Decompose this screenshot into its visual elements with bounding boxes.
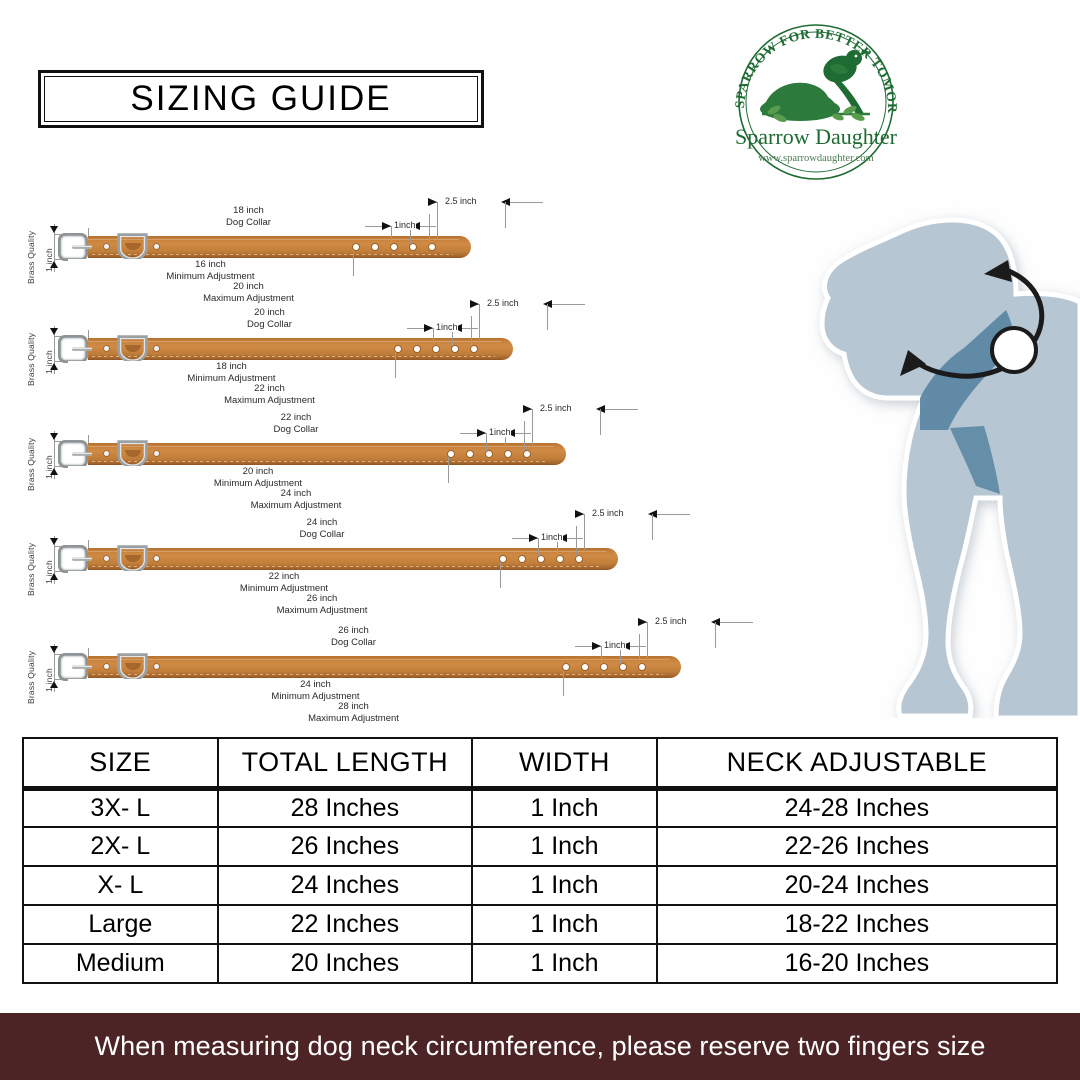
tip-dim-label: 2.5 inch [655, 616, 687, 626]
adjustment-hole [505, 451, 511, 457]
tip-dim-label: 2.5 inch [592, 508, 624, 518]
table-row: X- L24 Inches1 Inch20-24 Inches [23, 866, 1057, 905]
strap-rivet [104, 556, 109, 561]
col-header-width: WIDTH [472, 738, 657, 788]
table-row: 2X- L26 Inches1 Inch22-26 Inches [23, 827, 1057, 866]
hole-gap-arrow-right [424, 324, 433, 332]
brass-quality-label: Brass Quality [26, 651, 36, 704]
dog-silhouette-icon [822, 220, 1080, 718]
tip-dim-line-right [549, 304, 585, 305]
tip-dim-tick [437, 202, 438, 238]
width-arrow-up [50, 363, 58, 370]
strap-rivet [154, 664, 159, 669]
tip-dim-tick [505, 202, 506, 228]
adjustment-hole [433, 346, 439, 352]
adjustment-hole [601, 664, 607, 670]
adjustment-hole [452, 346, 458, 352]
strap-rivet [104, 451, 109, 456]
strap-rivet [154, 244, 159, 249]
collar-strap [88, 338, 513, 360]
max-dim-label: 22 inchMaximum Adjustment [68, 383, 471, 406]
min-dim-label: 16 inchMinimum Adjustment [68, 259, 353, 282]
collar-dim-tick [524, 421, 525, 451]
logo-website: www.sparrowdaughter.com [758, 153, 873, 164]
width-arrow-down [50, 328, 58, 335]
cell-size: 3X- L [23, 788, 218, 827]
cell-neck-adjustable: 20-24 Inches [657, 866, 1057, 905]
cell-total-length: 28 Inches [218, 788, 472, 827]
cell-width: 1 Inch [472, 788, 657, 827]
width-arrow-down [50, 433, 58, 440]
strap-rivet [154, 556, 159, 561]
adjustment-hole [576, 556, 582, 562]
min-dim-label: 18 inchMinimum Adjustment [68, 361, 395, 384]
keeper-loop-icon [116, 333, 150, 363]
collar-dim-tick [429, 214, 430, 244]
strap-rivet [154, 451, 159, 456]
cell-width: 1 Inch [472, 944, 657, 983]
keeper-loop-icon [116, 543, 150, 573]
tip-dim-tick [652, 514, 653, 540]
hole-gap-tick [538, 538, 539, 556]
cell-neck-adjustable: 18-22 Inches [657, 905, 1057, 944]
tip-dim-arrow-right [428, 198, 437, 206]
hole-gap-label: 1inch [394, 220, 416, 230]
cell-total-length: 22 Inches [218, 905, 472, 944]
width-arrow-up [50, 681, 58, 688]
tip-dim-tick [479, 304, 480, 340]
adjustment-hole [429, 244, 435, 250]
width-arrow-down [50, 538, 58, 545]
tip-dim-label: 2.5 inch [487, 298, 519, 308]
sizing-guide-page: SIZING GUIDE SAVE SPARROW FOR BETTER TOM… [0, 0, 1080, 1080]
cell-neck-adjustable: 24-28 Inches [657, 788, 1057, 827]
cell-total-length: 26 Inches [218, 827, 472, 866]
tip-dim-arrow-right [523, 405, 532, 413]
adjustment-hole [391, 244, 397, 250]
table-row: Medium20 Inches1 Inch16-20 Inches [23, 944, 1057, 983]
max-dim-label: 28 inchMaximum Adjustment [68, 701, 639, 724]
collar-dim-tick [471, 316, 472, 346]
page-title-box: SIZING GUIDE [38, 70, 484, 128]
min-dim-label: 24 inchMinimum Adjustment [68, 679, 563, 702]
tip-dim-arrow-right [470, 300, 479, 308]
hole-gap-label: 1inch [489, 427, 511, 437]
max-dim-label: 24 inchMaximum Adjustment [68, 488, 524, 511]
cell-neck-adjustable: 16-20 Inches [657, 944, 1057, 983]
strap-rivet [104, 244, 109, 249]
collar-dim-label: 26 inchDog Collar [68, 625, 639, 648]
hole-gap-label: 1inch [436, 322, 458, 332]
size-table-wrap: SIZE TOTAL LENGTH WIDTH NECK ADJUSTABLE … [22, 737, 1058, 984]
collar-dim-label: 22 inchDog Collar [68, 412, 524, 435]
width-arrow-up [50, 573, 58, 580]
adjustment-hole [557, 556, 563, 562]
tip-dim-arrow-right [638, 618, 647, 626]
max-dim-label: 26 inchMaximum Adjustment [68, 593, 576, 616]
min-dim-tick [563, 670, 564, 696]
brass-quality-label: Brass Quality [26, 333, 36, 386]
hole-gap-tick [486, 433, 487, 451]
strap-rivet [154, 346, 159, 351]
min-dim-tick [353, 250, 354, 276]
hole-gap-arrow-right [529, 534, 538, 542]
col-header-total-length: TOTAL LENGTH [218, 738, 472, 788]
min-dim-label: 20 inchMinimum Adjustment [68, 466, 448, 489]
collar-dim-label: 18 inchDog Collar [68, 205, 429, 228]
cell-total-length: 24 Inches [218, 866, 472, 905]
tip-dim-label: 2.5 inch [445, 196, 477, 206]
adjustment-hole [639, 664, 645, 670]
brass-quality-label: Brass Quality [26, 543, 36, 596]
brass-quality-label: Brass Quality [26, 231, 36, 284]
collar-dim-tick [576, 526, 577, 556]
tip-dim-line-right [654, 514, 690, 515]
hole-gap-tick [391, 226, 392, 244]
collar-dim-tick [639, 634, 640, 664]
table-body: 3X- L28 Inches1 Inch24-28 Inches2X- L26 … [23, 788, 1057, 983]
buckle-icon [58, 544, 92, 574]
table-header-row: SIZE TOTAL LENGTH WIDTH NECK ADJUSTABLE [23, 738, 1057, 788]
tip-dim-tick [647, 622, 648, 658]
hole-gap-arrow-right [382, 222, 391, 230]
collar-dim-label: 20 inchDog Collar [68, 307, 471, 330]
tip-dim-arrow-right [575, 510, 584, 518]
cell-width: 1 Inch [472, 827, 657, 866]
hole-gap-arrow-right [592, 642, 601, 650]
cell-size: Medium [23, 944, 218, 983]
hole-gap-arrow-right [477, 429, 486, 437]
strap-rivet [104, 346, 109, 351]
width-arrow-up [50, 261, 58, 268]
tip-dim-tick [532, 409, 533, 445]
min-dim-tick [395, 352, 396, 378]
cell-total-length: 20 Inches [218, 944, 472, 983]
adjustment-hole [471, 346, 477, 352]
tip-dim-tick [547, 304, 548, 330]
strap-rivet [104, 664, 109, 669]
adjustment-hole [467, 451, 473, 457]
min-dim-tick [500, 562, 501, 588]
width-arrow-up [50, 468, 58, 475]
cell-size: X- L [23, 866, 218, 905]
buckle-icon [58, 334, 92, 364]
buckle-icon [58, 232, 92, 262]
width-arrow-down [50, 226, 58, 233]
brand-logo: SAVE SPARROW FOR BETTER TOMORROW [718, 14, 914, 184]
hole-gap-tick [433, 328, 434, 346]
brass-quality-label: Brass Quality [26, 438, 36, 491]
adjustment-hole [519, 556, 525, 562]
cell-neck-adjustable: 22-26 Inches [657, 827, 1057, 866]
hole-gap-label: 1inch [604, 640, 626, 650]
cell-width: 1 Inch [472, 905, 657, 944]
adjustment-hole [414, 346, 420, 352]
keeper-loop-icon [116, 231, 150, 261]
table-row: 3X- L28 Inches1 Inch24-28 Inches [23, 788, 1057, 827]
col-header-neck-adjustable: NECK ADJUSTABLE [657, 738, 1057, 788]
collar-strap [88, 656, 681, 678]
adjustment-hole [620, 664, 626, 670]
buckle-icon [58, 439, 92, 469]
width-arrow-down [50, 646, 58, 653]
keeper-loop-icon [116, 651, 150, 681]
adjustment-hole [486, 451, 492, 457]
page-title: SIZING GUIDE [130, 79, 391, 119]
tip-dim-line-right [507, 202, 543, 203]
tip-dim-tick [584, 514, 585, 550]
collar-dim-label: 24 inchDog Collar [68, 517, 576, 540]
cell-size: 2X- L [23, 827, 218, 866]
collar-strap [88, 443, 566, 465]
hole-gap-label: 1inch [541, 532, 563, 542]
cell-width: 1 Inch [472, 866, 657, 905]
hole-gap-tick [601, 646, 602, 664]
collar-tag-icon [992, 328, 1036, 372]
adjustment-hole [410, 244, 416, 250]
keeper-loop-icon [116, 438, 150, 468]
footer-banner: When measuring dog neck circumference, p… [0, 1013, 1080, 1080]
dog-illustration [800, 198, 1080, 718]
cell-size: Large [23, 905, 218, 944]
adjustment-hole [582, 664, 588, 670]
logo-brand-name: Sparrow Daughter [735, 124, 898, 149]
tip-dim-label: 2.5 inch [540, 403, 572, 413]
adjustment-hole [524, 451, 530, 457]
col-header-size: SIZE [23, 738, 218, 788]
buckle-icon [58, 652, 92, 682]
size-table: SIZE TOTAL LENGTH WIDTH NECK ADJUSTABLE … [22, 737, 1058, 984]
tip-dim-line-right [602, 409, 638, 410]
table-row: Large22 Inches1 Inch18-22 Inches [23, 905, 1057, 944]
tip-dim-tick [600, 409, 601, 435]
footer-note: When measuring dog neck circumference, p… [95, 1031, 986, 1062]
min-dim-label: 22 inchMinimum Adjustment [68, 571, 500, 594]
adjustment-hole [372, 244, 378, 250]
tip-dim-line-right [717, 622, 753, 623]
min-dim-tick [448, 457, 449, 483]
adjustment-hole [538, 556, 544, 562]
tip-dim-tick [715, 622, 716, 648]
